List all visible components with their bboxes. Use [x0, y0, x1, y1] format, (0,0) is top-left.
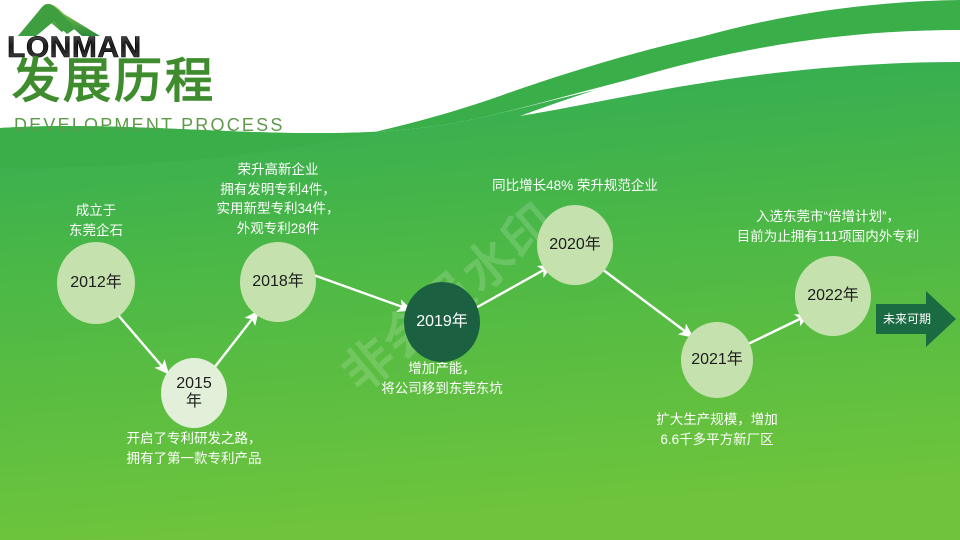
node-2020-caption: 同比增长48% 荣升规范企业: [465, 176, 685, 196]
slide-canvas: LONMAN 发展历程 DEVELOPMENT PROCESS 非会员水印 成立…: [0, 0, 960, 540]
node-2022[interactable]: 2022年: [795, 256, 871, 336]
page-title-cn: 发展历程: [12, 58, 216, 106]
node-2022-label: 2022年: [807, 287, 859, 305]
node-2015[interactable]: 2015 年: [161, 358, 227, 428]
page-title-en: DEVELOPMENT PROCESS: [14, 115, 285, 136]
node-2022-caption: 入选东莞市“倍增计划”， 目前为止拥有111项国内外专利: [703, 207, 953, 246]
node-2021[interactable]: 2021年: [681, 322, 753, 398]
node-2012[interactable]: 2012年: [57, 242, 135, 324]
lonman-logo: LONMAN: [4, 2, 176, 60]
node-2018[interactable]: 2018年: [240, 242, 316, 322]
node-2019[interactable]: 2019年: [404, 282, 480, 362]
node-2015-caption: 开启了专利研发之路， 拥有了第一款专利产品: [104, 429, 284, 468]
node-2021-caption: 扩大生产规模，增加 6.6千多平方新厂区: [637, 410, 797, 449]
node-2012-label: 2012年: [70, 274, 122, 292]
node-2019-label: 2019年: [416, 313, 468, 331]
node-2018-caption: 荣升高新企业 拥有发明专利4件， 实用新型专利34件， 外观专利28件: [198, 160, 358, 238]
node-2018-label: 2018年: [252, 273, 304, 291]
node-2019-caption: 增加产能， 将公司移到东莞东坑: [362, 359, 522, 398]
future-arrow-label: 未来可期: [878, 310, 936, 327]
node-2012-caption: 成立于 东莞企石: [36, 201, 156, 240]
node-2020-label: 2020年: [549, 236, 601, 254]
node-2015-label: 2015 年: [176, 375, 212, 412]
node-2021-label: 2021年: [691, 351, 743, 369]
node-2020[interactable]: 2020年: [537, 205, 613, 285]
